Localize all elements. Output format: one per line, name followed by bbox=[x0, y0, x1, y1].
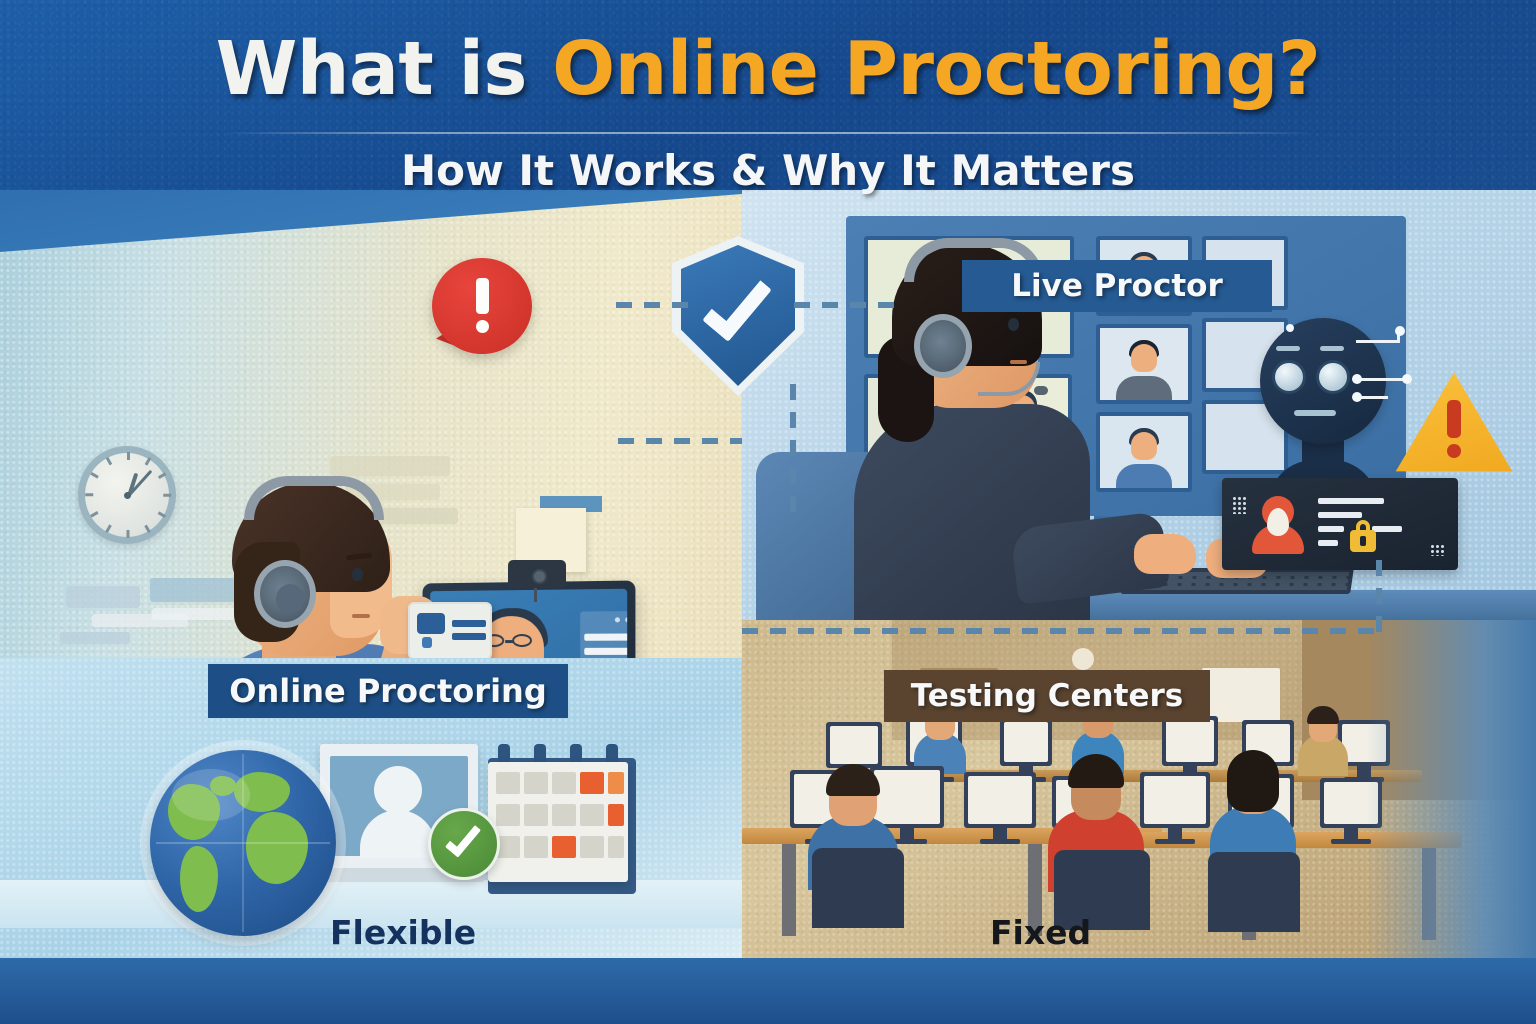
green-check-icon bbox=[428, 808, 500, 880]
ceiling-lamp bbox=[1072, 648, 1094, 670]
panel-dot-grid bbox=[1430, 544, 1446, 556]
warning-triangle-icon bbox=[1392, 368, 1516, 478]
desk-leg bbox=[782, 844, 796, 936]
scene-fade-overlay bbox=[1366, 620, 1536, 958]
proctor-desk bbox=[1072, 590, 1536, 620]
headphones-band bbox=[244, 476, 384, 520]
title-part-white: What is bbox=[216, 26, 553, 112]
computer-monitor bbox=[1000, 718, 1052, 766]
label-flexible: Flexible bbox=[330, 913, 476, 952]
header: What is Online Proctoring? How It Works … bbox=[0, 0, 1536, 200]
banner-online-proctoring: Online Proctoring bbox=[208, 664, 568, 718]
calendar-icon bbox=[480, 744, 636, 894]
label-fixed: Fixed bbox=[990, 913, 1091, 952]
webcam-stem bbox=[534, 586, 537, 602]
headphones-earcup bbox=[254, 560, 316, 628]
connector-dashed bbox=[742, 628, 1382, 634]
student-video-feed bbox=[1096, 324, 1192, 404]
headset-earcup bbox=[914, 314, 972, 378]
testing-chair bbox=[1208, 852, 1300, 932]
panel-online-proctoring-scene bbox=[0, 190, 742, 658]
banner-live-proctor: Live Proctor bbox=[962, 260, 1272, 312]
test-taker bbox=[1298, 706, 1348, 776]
student-mouth bbox=[352, 614, 370, 618]
infographic-canvas: What is Online Proctoring? How It Works … bbox=[0, 0, 1536, 1024]
wall-poster bbox=[1202, 668, 1280, 722]
testing-chair bbox=[812, 848, 904, 928]
student-video-feed bbox=[1096, 412, 1192, 492]
lock-icon bbox=[1350, 520, 1376, 552]
webcam-icon bbox=[508, 560, 566, 588]
connector-dashed bbox=[794, 302, 906, 308]
computer-monitor bbox=[964, 772, 1036, 828]
wall-note bbox=[66, 586, 140, 608]
connector-dashed bbox=[616, 302, 688, 308]
connector-dashed bbox=[1376, 560, 1382, 632]
wall-clock-icon bbox=[78, 446, 176, 544]
panel-dot-grid bbox=[1232, 496, 1246, 514]
id-card-icon bbox=[408, 602, 492, 658]
computer-monitor bbox=[1140, 772, 1210, 828]
wall-note bbox=[60, 632, 130, 644]
shield-check-icon bbox=[672, 236, 804, 396]
wall-note bbox=[152, 608, 242, 620]
flagged-identity-panel bbox=[1222, 478, 1458, 570]
title-divider bbox=[222, 132, 1314, 134]
connector-dashed bbox=[618, 438, 742, 444]
alert-exclamation-icon bbox=[432, 258, 532, 354]
headset-mic-tip bbox=[1034, 386, 1048, 395]
page-title: What is Online Proctoring? bbox=[0, 26, 1536, 112]
wall-note bbox=[330, 456, 450, 476]
footer-band bbox=[0, 958, 1536, 1024]
title-part-gold: Online Proctoring? bbox=[552, 26, 1320, 112]
globe-icon bbox=[150, 750, 336, 936]
page-subtitle: How It Works & Why It Matters bbox=[0, 146, 1536, 195]
proctor-hand bbox=[1134, 534, 1196, 574]
calendar-body bbox=[488, 762, 628, 882]
connector-dashed bbox=[790, 384, 796, 516]
student-eye bbox=[352, 568, 363, 581]
proctor-eye bbox=[1008, 318, 1019, 331]
banner-testing-centers: Testing Centers bbox=[884, 670, 1210, 722]
flagged-user-avatar-icon bbox=[1252, 496, 1304, 554]
